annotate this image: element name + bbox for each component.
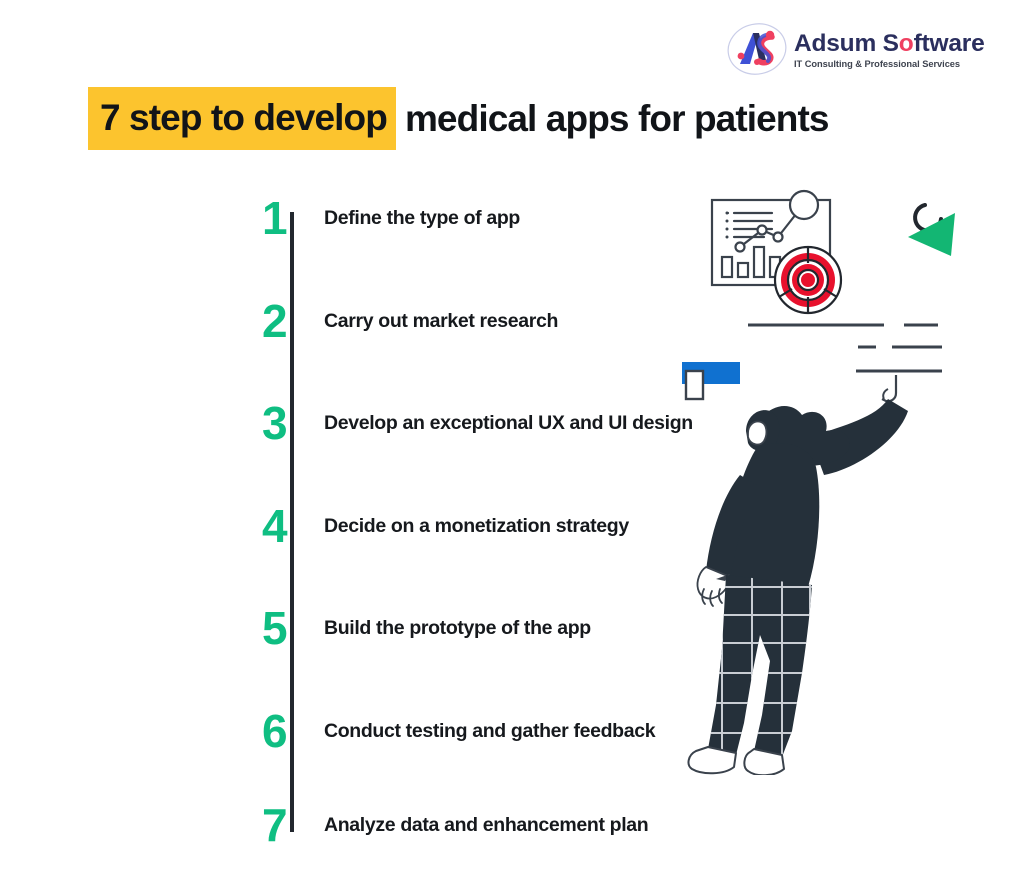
step-label: Develop an exceptional UX and UI design: [306, 412, 693, 435]
brand-logo: Adsum Software IT Consulting & Professio…: [726, 20, 968, 78]
timeline-step-2: 2 Carry out market research: [262, 291, 558, 351]
brand-text: Adsum Software IT Consulting & Professio…: [794, 29, 985, 70]
timeline-step-1: 1 Define the type of app: [262, 188, 520, 248]
timeline-step-4: 4 Decide on a monetization strategy: [262, 496, 629, 556]
wordmark-part1: Adsum S: [794, 30, 899, 57]
page-title: 7 step to develop medical apps for patie…: [88, 83, 968, 153]
woman-pointing-at-dashboard-illustration: [660, 175, 1000, 775]
step-label: Analyze data and enhancement plan: [306, 814, 648, 837]
step-number: 7: [262, 802, 306, 848]
timeline-step-7: 7 Analyze data and enhancement plan: [262, 795, 648, 855]
step-number: 4: [262, 503, 306, 549]
step-number: 3: [262, 400, 306, 446]
woman-figure: [689, 375, 908, 775]
step-label: Build the prototype of the app: [306, 617, 591, 640]
page-title-rest: medical apps for patients: [396, 100, 829, 137]
page-title-highlight: 7 step to develop: [88, 87, 396, 150]
small-card-outline-icon: [686, 371, 703, 399]
brand-tagline: IT Consulting & Professional Services: [794, 59, 985, 69]
timeline-step-3: 3 Develop an exceptional UX and UI desig…: [262, 393, 693, 453]
as-monogram-icon: [726, 22, 788, 76]
infographic-canvas: Adsum Software IT Consulting & Professio…: [0, 0, 1024, 878]
timeline-step-6: 6 Conduct testing and gather feedback: [262, 701, 655, 761]
red-target-rings-icon: [775, 247, 841, 313]
step-number: 6: [262, 708, 306, 754]
step-number: 2: [262, 298, 306, 344]
step-label: Conduct testing and gather feedback: [306, 720, 655, 743]
brand-wordmark: Adsum Software: [794, 31, 985, 57]
abstract-text-lines: [748, 325, 942, 371]
step-label: Carry out market research: [306, 310, 558, 333]
wordmark-part2: o: [899, 30, 914, 57]
step-number: 5: [262, 605, 306, 651]
step-label: Define the type of app: [306, 207, 520, 230]
wordmark-part3: ftware: [914, 30, 985, 57]
timeline-step-5: 5 Build the prototype of the app: [262, 598, 591, 658]
left-shoe: [689, 747, 736, 773]
step-number: 1: [262, 195, 306, 241]
step-label: Decide on a monetization strategy: [306, 515, 629, 538]
